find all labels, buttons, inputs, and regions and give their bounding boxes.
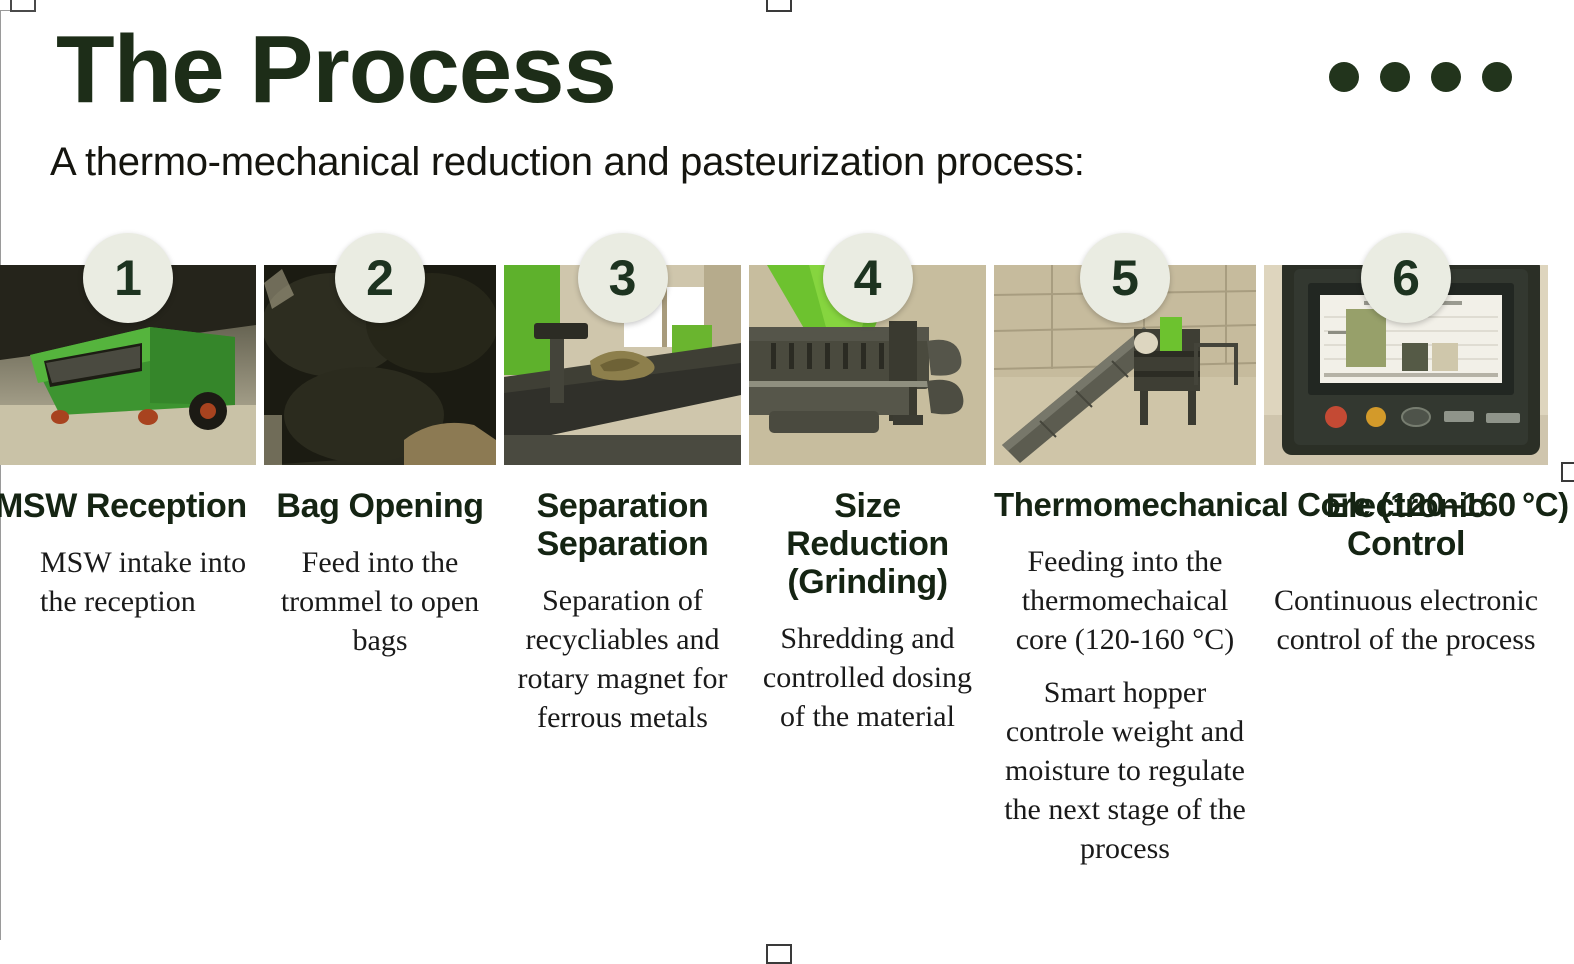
step-title: Size Reduction (Grinding) <box>749 487 986 601</box>
dot-icon <box>1329 62 1359 92</box>
process-step-5[interactable]: 5 Thermomechanical Core (120–160 °C) Fee… <box>994 265 1256 868</box>
process-step-4[interactable]: 4 Size Reduction (Grinding) Shredding an… <box>749 265 986 736</box>
step-number-badge: 1 <box>83 233 173 323</box>
step-paragraph: Smart hopper controle weight and moistur… <box>994 673 1256 868</box>
step-paragraph: Feed into the trommel to open bags <box>264 543 496 660</box>
step-title: Electronic Control <box>1264 487 1548 563</box>
step-body: Feed into the trommel to open bags <box>264 543 496 660</box>
step-title: Separation Separation <box>504 487 741 563</box>
decorative-dots <box>1329 62 1512 92</box>
step-body: Shredding and controlled dosing of the m… <box>749 619 986 736</box>
step-title: Bag Opening <box>264 487 496 525</box>
process-steps-row: 1 MSW Reception MSW intake into the rece… <box>0 265 1574 868</box>
step-body: Separation of recycliables and rotary ma… <box>504 581 741 737</box>
step-paragraph: MSW intake into the reception <box>40 543 256 621</box>
process-step-3[interactable]: 3 Separation Separation Separation of re… <box>504 265 741 737</box>
process-step-6[interactable]: 6 Electronic Control Continuous electron… <box>1264 265 1548 659</box>
step-paragraph: Continuous electronic control of the pro… <box>1264 581 1548 659</box>
step-number-badge: 2 <box>335 233 425 323</box>
process-step-2[interactable]: 2 Bag Opening Feed into the trommel to o… <box>264 265 496 660</box>
process-step-1[interactable]: 1 MSW Reception MSW intake into the rece… <box>0 265 256 621</box>
slide-header: The Process A thermo-mechanical reductio… <box>0 0 1574 210</box>
dot-icon <box>1482 62 1512 92</box>
step-paragraph: Separation of recycliables and rotary ma… <box>504 581 741 737</box>
step-number-badge: 5 <box>1080 233 1170 323</box>
step-body: Feeding into the thermomechaical core (1… <box>994 542 1256 868</box>
step-body: MSW intake into the reception <box>0 543 256 621</box>
page-subtitle: A thermo-mechanical reduction and pasteu… <box>50 140 1085 185</box>
step-title: MSW Reception <box>0 487 251 525</box>
step-number-badge: 6 <box>1361 233 1451 323</box>
step-title: Thermomechanical Core (120–160 °C) <box>994 487 1256 524</box>
page-title: The Process <box>56 22 616 118</box>
dot-icon <box>1431 62 1461 92</box>
selection-handle-bottom-center[interactable] <box>766 944 792 964</box>
step-number-badge: 3 <box>578 233 668 323</box>
step-number-badge: 4 <box>823 233 913 323</box>
step-paragraph: Feeding into the thermomechaical core (1… <box>994 542 1256 659</box>
step-paragraph: Shredding and controlled dosing of the m… <box>749 619 986 736</box>
step-body: Continuous electronic control of the pro… <box>1264 581 1548 659</box>
dot-icon <box>1380 62 1410 92</box>
